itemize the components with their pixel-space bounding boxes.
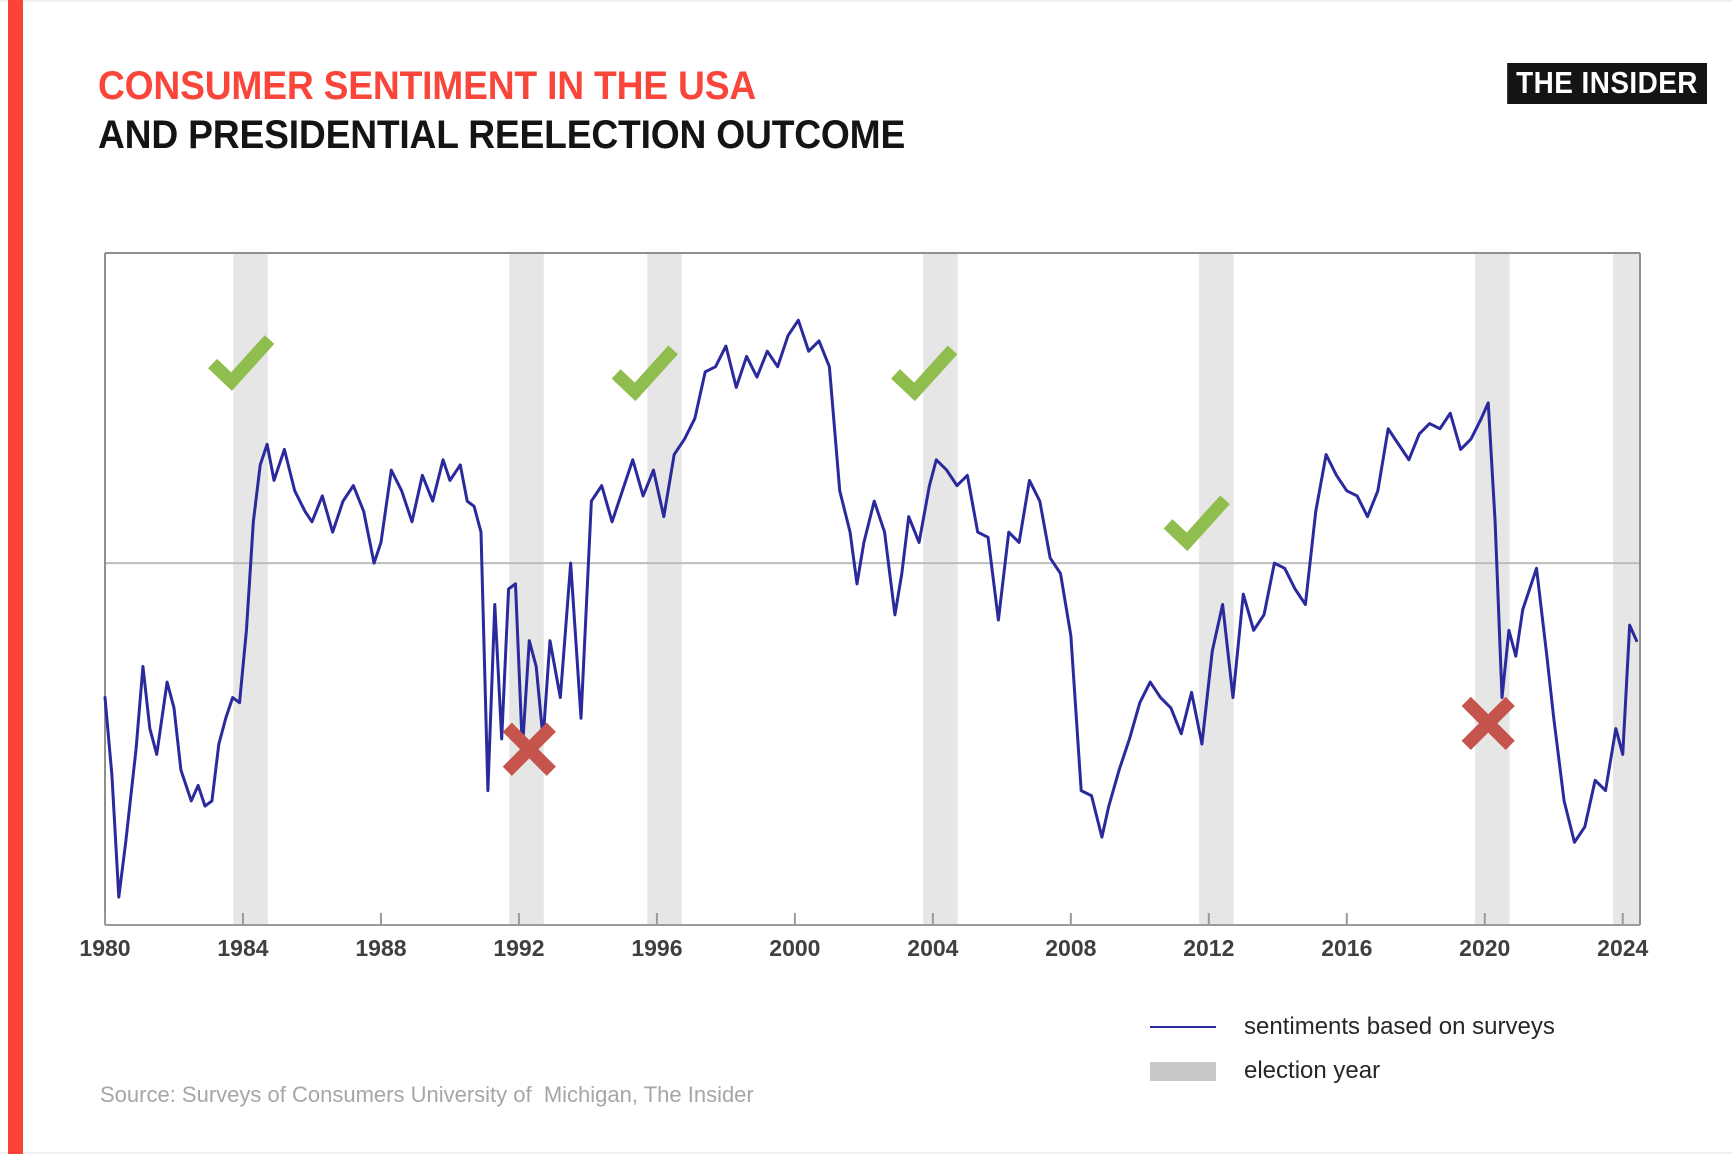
- x-axis-label-2024: 2024: [1597, 935, 1648, 962]
- source-note: Source: Surveys of Consumers University …: [100, 1082, 754, 1108]
- chart-tick-marks: [105, 913, 1623, 925]
- slide-root: CONSUMER SENTIMENT IN THE USA AND PRESID…: [0, 0, 1732, 1154]
- chart-axes: [105, 253, 1640, 925]
- election-year-bands: [233, 253, 1640, 925]
- legend-label-election-year: election year: [1244, 1057, 1380, 1085]
- x-axis-label-2012: 2012: [1183, 935, 1234, 962]
- series-line-sentiments: [105, 320, 1637, 897]
- x-axis-label-1988: 1988: [355, 935, 406, 962]
- chart-container: 1980198419881992199620002004200820122016…: [0, 0, 1732, 1154]
- x-axis-label-1996: 1996: [631, 935, 682, 962]
- legend-label-series: sentiments based on surveys: [1244, 1013, 1555, 1041]
- election-year-band-2012: [1199, 253, 1233, 925]
- chart-legend: sentiments based on surveys election yea…: [1150, 1005, 1555, 1093]
- legend-item-election-year: election year: [1150, 1049, 1555, 1093]
- x-axis-label-2016: 2016: [1321, 935, 1372, 962]
- x-axis-label-2008: 2008: [1045, 935, 1096, 962]
- x-axis-label-2020: 2020: [1459, 935, 1510, 962]
- chart-svg: [0, 0, 1732, 1154]
- x-axis-label-1980: 1980: [79, 935, 130, 962]
- legend-item-series: sentiments based on surveys: [1150, 1005, 1555, 1049]
- x-axis-label-1992: 1992: [493, 935, 544, 962]
- election-year-band-2024: [1613, 253, 1640, 925]
- sentiment-line-series: [105, 320, 1637, 897]
- x-axis-label-1984: 1984: [217, 935, 268, 962]
- legend-band-swatch: [1150, 1062, 1228, 1081]
- x-axis-label-2000: 2000: [769, 935, 820, 962]
- legend-line-swatch: [1150, 1026, 1228, 1028]
- election-year-band-2020: [1475, 253, 1509, 925]
- x-axis-label-2004: 2004: [907, 935, 958, 962]
